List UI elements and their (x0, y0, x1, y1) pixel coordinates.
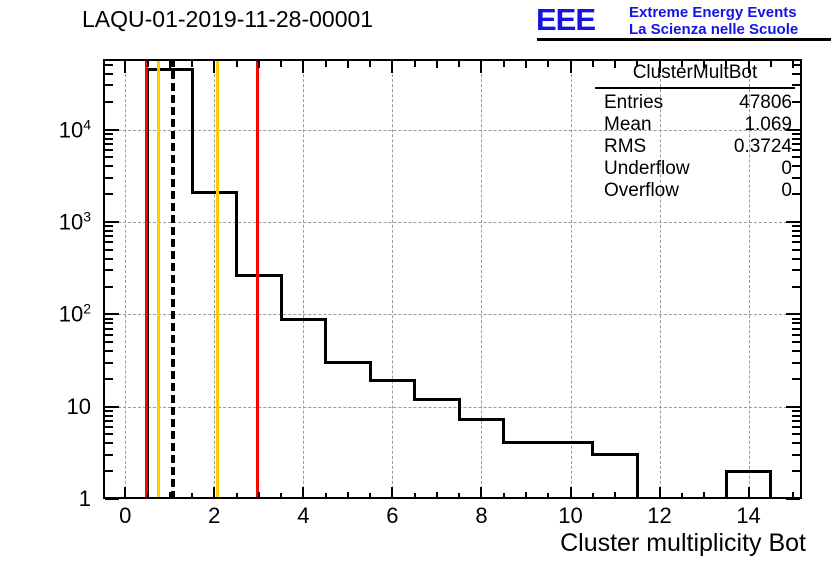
stats-row: RMS0.3724 (592, 136, 798, 158)
y-axis-tick (105, 420, 113, 422)
y-axis-tick (105, 470, 113, 472)
x-axis-tick (347, 492, 349, 499)
y-axis-tick (105, 230, 113, 232)
x-axis-tick (458, 61, 460, 67)
eee-logo-line2: La Scienza nelle Scuole (629, 21, 798, 38)
eee-logo: EEE Extreme Energy Events La Scienza nel… (536, 2, 834, 42)
x-axis-tick (458, 493, 460, 499)
x-axis-tick (191, 493, 193, 499)
x-axis-tick (614, 492, 616, 499)
stats-row: Mean1.069 (592, 114, 798, 136)
y-axis-tick-label: 103 (0, 208, 91, 235)
y-axis-tick (105, 156, 113, 158)
x-axis-tick (236, 493, 238, 499)
y-axis-tick (105, 415, 113, 417)
x-axis-tick (570, 61, 572, 73)
x-axis-tick (347, 61, 349, 68)
y-axis-tick (792, 322, 800, 324)
y-axis-tick (105, 225, 113, 227)
y-axis-tick (105, 221, 119, 223)
y-axis-tick (105, 433, 113, 435)
x-axis-tick (169, 492, 171, 499)
y-axis-tick (105, 322, 113, 324)
x-axis-tick (480, 61, 482, 73)
stats-row-value: 1.069 (744, 114, 792, 136)
x-axis-tick (325, 61, 327, 67)
y-axis-tick (105, 235, 113, 237)
eee-logo-line1: Extreme Energy Events (629, 4, 797, 21)
x-axis-tick (325, 493, 327, 499)
x-axis-tick (592, 493, 594, 499)
y-axis-tick (792, 420, 800, 422)
x-axis-tick (503, 61, 505, 67)
stats-row-key: RMS (604, 136, 646, 158)
y-axis-tick (105, 350, 113, 352)
y-axis-tick (792, 269, 800, 271)
stats-row: Entries47806 (592, 92, 798, 114)
x-axis-tick (770, 493, 772, 499)
x-axis-tick (414, 61, 416, 67)
eee-logo-letters: EEE (536, 3, 595, 37)
y-axis-tick (792, 341, 800, 343)
x-axis-tick-label: 14 (736, 503, 760, 529)
x-axis-tick (681, 493, 683, 499)
x-axis-tick (124, 487, 126, 499)
y-axis-tick (792, 350, 800, 352)
x-axis-tick (503, 493, 505, 499)
y-axis-tick (792, 362, 800, 364)
y-axis-tick (105, 73, 113, 75)
y-axis-tick (792, 415, 800, 417)
x-axis-tick (636, 493, 638, 499)
x-axis-tick (213, 61, 215, 73)
y-axis-tick (105, 454, 113, 456)
y-axis-tick (792, 230, 800, 232)
y-axis-tick (105, 258, 113, 260)
x-axis-tick-label: 8 (475, 503, 487, 529)
stats-row-value: 0 (781, 158, 792, 180)
y-axis-tick-label: 10 (0, 394, 91, 420)
x-axis-tick (302, 487, 304, 499)
y-axis-tick (792, 225, 800, 227)
x-axis-tick (302, 61, 304, 73)
x-axis-tick (525, 492, 527, 499)
y-axis-tick (105, 149, 113, 151)
y-axis-tick (105, 341, 113, 343)
x-axis-tick (703, 492, 705, 499)
x-axis-tick-label: 12 (647, 503, 671, 529)
y-axis-tick (792, 235, 800, 237)
y-axis-tick (105, 362, 113, 364)
y-axis-tick (105, 129, 119, 131)
x-axis-tick (147, 61, 149, 67)
y-axis-tick (792, 318, 800, 320)
x-axis-tick (236, 61, 238, 67)
y-axis-tick-label: 102 (0, 301, 91, 328)
stats-box-title: ClusterMultBot (592, 62, 798, 84)
y-axis-tick (105, 64, 113, 66)
x-axis-tick (369, 493, 371, 499)
y-axis-tick (792, 433, 800, 435)
y-axis-tick (786, 406, 800, 408)
y-axis-tick (105, 313, 119, 315)
y-axis-tick (105, 177, 113, 179)
y-axis-tick (105, 269, 113, 271)
y-axis-tick (105, 101, 113, 103)
x-axis-tick (659, 487, 661, 499)
y-axis-tick (105, 133, 113, 135)
y-axis-tick (792, 442, 800, 444)
x-axis-tick (525, 61, 527, 68)
x-axis-tick (436, 492, 438, 499)
y-axis-tick (786, 313, 800, 315)
stats-box-rule (595, 87, 795, 89)
stats-row-value: 0.3724 (734, 136, 792, 158)
y-axis-tick (105, 442, 113, 444)
y-axis-tick (786, 221, 800, 223)
stats-row: Underflow0 (592, 158, 798, 180)
x-axis-tick (748, 487, 750, 499)
y-axis-tick (105, 406, 119, 408)
y-axis-tick (105, 328, 113, 330)
x-axis-tick-label: 6 (386, 503, 398, 529)
y-axis-tick (786, 498, 800, 500)
y-axis-tick-label: 1 (0, 486, 91, 512)
x-axis-tick (280, 61, 282, 67)
y-axis-tick (105, 410, 113, 412)
x-axis-tick (391, 487, 393, 499)
x-axis-tick (124, 61, 126, 73)
page-title: LAQU-01-2019-11-28-00001 (82, 6, 373, 33)
stats-row-value: 47806 (739, 92, 792, 114)
x-axis-tick (258, 61, 260, 68)
x-axis-tick-label: 4 (297, 503, 309, 529)
y-axis-tick (105, 138, 113, 140)
y-axis-tick (792, 328, 800, 330)
x-axis-tick (391, 61, 393, 73)
x-axis-tick (725, 493, 727, 499)
stats-row-key: Mean (604, 114, 652, 136)
y-axis-tick (105, 426, 113, 428)
x-axis-tick (258, 492, 260, 499)
y-axis-tick (792, 286, 800, 288)
root-canvas: LAQU-01-2019-11-28-00001 EEE Extreme Ene… (0, 0, 836, 572)
y-axis-tick (105, 286, 113, 288)
x-axis-tick (147, 493, 149, 499)
stats-row-key: Overflow (604, 180, 679, 202)
x-axis-title: Cluster multiplicity Bot (560, 529, 806, 558)
x-axis-tick (213, 487, 215, 499)
x-axis-tick (547, 493, 549, 499)
x-axis-tick-label: 2 (208, 503, 220, 529)
x-axis-tick (169, 61, 171, 68)
y-axis-tick (105, 143, 113, 145)
y-axis-tick (792, 241, 800, 243)
stats-row-key: Underflow (604, 158, 690, 180)
stats-row-value: 0 (781, 180, 792, 202)
x-axis-tick (547, 61, 549, 67)
x-axis-tick-label: 0 (119, 503, 131, 529)
stats-row-key: Entries (604, 92, 663, 114)
stats-box: ClusterMultBot Entries47806Mean1.069RMS0… (592, 62, 798, 198)
y-axis-tick (792, 378, 800, 380)
y-axis-tick (105, 241, 113, 243)
x-axis-tick (414, 493, 416, 499)
x-axis-tick (369, 61, 371, 67)
y-axis-tick (792, 410, 800, 412)
y-axis-tick (105, 193, 113, 195)
y-axis-tick (792, 334, 800, 336)
y-axis-tick (792, 454, 800, 456)
y-axis-tick (105, 318, 113, 320)
y-axis-tick-label: 104 (0, 116, 91, 143)
x-axis-tick (280, 493, 282, 499)
y-axis-tick (105, 165, 113, 167)
y-axis-tick (105, 378, 113, 380)
x-axis-tick-label: 10 (558, 503, 582, 529)
stats-row: Overflow0 (592, 180, 798, 202)
y-axis-tick (105, 249, 113, 251)
y-axis-tick (792, 470, 800, 472)
y-axis-tick (105, 84, 113, 86)
y-axis-tick (105, 334, 113, 336)
x-axis-tick (436, 61, 438, 68)
x-axis-tick (570, 487, 572, 499)
y-axis-tick (105, 498, 119, 500)
y-axis-tick (792, 249, 800, 251)
y-axis-tick (792, 258, 800, 260)
x-axis-tick (191, 61, 193, 67)
eee-logo-underline (537, 38, 831, 41)
y-axis-tick (792, 426, 800, 428)
x-axis-tick (480, 487, 482, 499)
